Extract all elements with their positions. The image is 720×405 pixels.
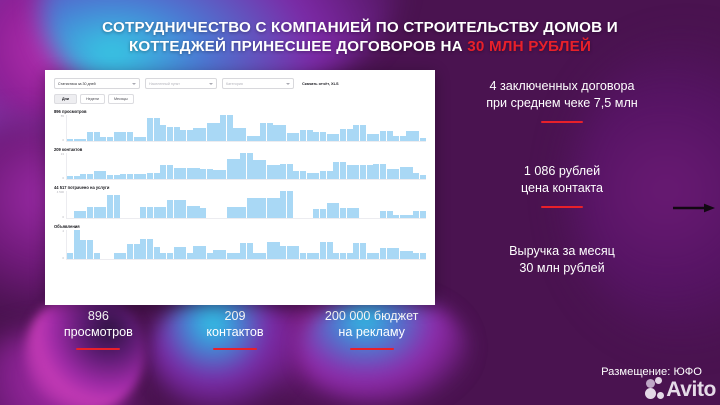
chevron-down-icon <box>132 83 136 85</box>
chart-bar <box>280 246 286 259</box>
chart-contacts-title: 209 контактов <box>54 147 426 152</box>
chart-bar <box>353 243 359 259</box>
stat-budget: 200 000 бюджет на рекламу <box>303 308 440 350</box>
chart-bar <box>193 168 199 179</box>
chart-bar <box>420 138 426 141</box>
chart-bar <box>127 174 133 179</box>
highlight-contracts-line-1: 4 заключенных договора <box>437 78 687 95</box>
chart-contacts-body: 13 0 <box>54 153 426 180</box>
stat-views-label: просмотров <box>30 324 167 340</box>
chart-bar <box>240 243 246 259</box>
chart-bar <box>180 247 186 259</box>
chart-bar <box>287 246 293 259</box>
chart-bar <box>220 170 226 179</box>
chart-bar <box>134 244 140 259</box>
chart-bar <box>300 171 306 179</box>
chart-bar <box>313 132 319 141</box>
chart-bar <box>267 165 273 179</box>
highlight-revenue: Выручка за месяц 30 млн рублей <box>437 243 687 277</box>
chart-bar <box>100 137 106 141</box>
chart-bar <box>253 160 259 179</box>
chart-bar <box>167 165 173 179</box>
page-title: СОТРУДНИЧЕСТВО С КОМПАНИЕЙ ПО СТРОИТЕЛЬС… <box>0 18 720 56</box>
chart-bar <box>400 136 406 141</box>
chart-bar <box>347 253 353 259</box>
divider-rule <box>350 348 394 350</box>
category-select[interactable]: Категория <box>222 78 294 89</box>
arrow-right-icon <box>673 203 715 213</box>
chart-bar <box>227 115 233 141</box>
chart-bar <box>307 173 313 180</box>
chart-bar <box>187 253 193 259</box>
chart-bar <box>353 165 359 179</box>
chart-bar <box>340 253 346 259</box>
chart-bar <box>380 164 386 179</box>
chart-bar <box>127 244 133 259</box>
chart-bar <box>167 200 173 218</box>
tab-days[interactable]: Дни <box>54 94 77 104</box>
chart-bar <box>406 167 412 179</box>
chart-bar <box>273 242 279 259</box>
chart-listings-yaxis: 4 0 <box>54 230 67 260</box>
chart-bar <box>87 132 93 141</box>
chart-bar <box>406 215 412 218</box>
chart-bar <box>240 128 246 141</box>
chart-bar <box>67 176 73 179</box>
chart-bar <box>320 209 326 218</box>
chart-spend-yaxis: 4 500 0 <box>54 191 67 219</box>
chart-bar <box>74 139 80 141</box>
chart-bar <box>406 251 412 259</box>
chart-bar <box>373 164 379 179</box>
chart-bar <box>313 209 319 218</box>
chart-views-bars <box>67 115 426 142</box>
chart-bar <box>393 248 399 259</box>
chart-bar <box>174 127 180 141</box>
avito-dots-icon <box>645 377 667 403</box>
chart-bar <box>213 250 219 259</box>
chart-bar <box>207 123 213 141</box>
chart-bar <box>300 130 306 141</box>
chart-bar <box>247 153 253 179</box>
chart-bar <box>380 211 386 218</box>
chart-bar <box>267 242 273 259</box>
chart-bar <box>267 123 273 141</box>
chart-bar <box>340 208 346 218</box>
title-line-2: КОТТЕДЖЕЙ ПРИНЕСШЕЕ ДОГОВОРОВ НА 30 МЛН … <box>24 37 696 56</box>
highlight-contact-price: 1 086 рублей цена контакта <box>437 163 687 208</box>
chart-bar <box>253 198 259 218</box>
chart-bar <box>333 162 339 179</box>
chart-listings-title: Объявления <box>54 224 426 229</box>
chart-contacts: 209 контактов 13 0 <box>54 147 426 180</box>
chart-bar <box>207 169 213 179</box>
chart-spend-title: 44 517 потрачено на услуги <box>54 185 426 190</box>
title-line-2-plain: КОТТЕДЖЕЙ ПРИНЕСШЕЕ ДОГОВОРОВ НА <box>129 38 467 55</box>
chart-bar <box>147 118 153 141</box>
chart-bar <box>174 168 180 179</box>
chart-bar <box>347 129 353 141</box>
avito-watermark: Avito <box>645 377 716 403</box>
chart-bar <box>200 128 206 141</box>
chart-bar <box>67 139 73 141</box>
chart-bar <box>280 191 286 218</box>
stat-contacts-value: 209 <box>167 308 304 324</box>
avito-wordmark: Avito <box>666 378 716 402</box>
stat-contacts-label: контактов <box>167 324 304 340</box>
highlight-contact-price-line-1: 1 086 рублей <box>437 163 687 180</box>
chart-bar <box>393 169 399 179</box>
chart-bar <box>247 243 253 259</box>
chart-bar <box>227 253 233 259</box>
chart-bar <box>273 165 279 179</box>
chart-bar <box>380 131 386 141</box>
granularity-tabs: Дни Недели Месяцы <box>54 94 426 104</box>
chart-bar <box>233 159 239 179</box>
chart-bar <box>393 136 399 141</box>
chart-bar <box>114 253 120 259</box>
chart-bar <box>160 125 166 141</box>
chart-views-ytick-top: 55 <box>61 115 64 118</box>
chart-bar <box>420 253 426 259</box>
divider-rule <box>213 348 257 350</box>
chart-bar <box>67 253 73 259</box>
chart-bar <box>174 200 180 218</box>
chart-bar <box>187 168 193 179</box>
chart-bar <box>80 139 86 141</box>
chart-bar <box>193 128 199 141</box>
tab-months[interactable]: Месяцы <box>108 94 134 104</box>
chart-bar <box>340 162 346 179</box>
chart-bar <box>247 198 253 218</box>
chart-bar <box>154 207 160 218</box>
chart-bar <box>287 164 293 179</box>
chart-bar <box>154 173 160 180</box>
chart-bar <box>74 211 80 218</box>
chart-bar <box>233 253 239 259</box>
chart-bar <box>420 175 426 179</box>
chart-bar <box>327 203 333 218</box>
chart-bar <box>140 239 146 259</box>
chart-bar <box>134 137 140 141</box>
period-select[interactable]: Статистика за 30 дней <box>54 78 140 89</box>
chart-bar <box>280 125 286 141</box>
chart-bar <box>87 174 93 179</box>
chart-bar <box>373 134 379 141</box>
chart-bar <box>147 173 153 180</box>
chart-spend-ytick-bottom: 0 <box>62 216 64 219</box>
chart-bar <box>120 132 126 141</box>
chart-bar <box>293 246 299 259</box>
chart-bar <box>193 206 199 218</box>
chart-bar <box>107 195 113 218</box>
chart-bar <box>333 253 339 259</box>
chart-bar <box>327 134 333 141</box>
chart-views-body: 55 0 <box>54 115 426 142</box>
chart-bar <box>313 173 319 180</box>
chart-bar <box>307 253 313 259</box>
chart-bar <box>127 132 133 141</box>
chart-bar <box>87 240 93 259</box>
chart-views-yaxis: 55 0 <box>54 115 67 142</box>
chart-bar <box>380 248 386 259</box>
highlight-contracts-line-2: при среднем чеке 7,5 млн <box>437 95 687 112</box>
chart-bar <box>100 207 106 218</box>
chart-bar <box>387 169 393 179</box>
chart-bar <box>307 130 313 141</box>
chart-bar <box>260 160 266 179</box>
chart-bar <box>240 207 246 218</box>
title-line-1: СОТРУДНИЧЕСТВО С КОМПАНИЕЙ ПО СТРОИТЕЛЬС… <box>24 18 696 37</box>
chart-bar <box>320 171 326 179</box>
chart-bar <box>94 207 100 218</box>
chart-bar <box>134 174 140 179</box>
chart-bar <box>347 208 353 218</box>
chart-bar <box>180 200 186 218</box>
chevron-down-icon <box>286 83 290 85</box>
period-select-value: Статистика за 30 дней <box>58 82 96 86</box>
chart-bar <box>94 171 100 179</box>
chart-bar <box>333 134 339 141</box>
download-report-link[interactable]: Скачать отчёт, XLS <box>302 81 339 86</box>
chart-bar <box>87 207 93 218</box>
highlight-revenue-line-2: 30 млн рублей <box>437 260 687 277</box>
chart-bar <box>320 132 326 141</box>
chart-bar <box>260 198 266 218</box>
chart-bar <box>213 170 219 179</box>
chart-bar <box>94 253 100 259</box>
chart-bar <box>114 175 120 179</box>
category-select-value: Категория <box>226 82 243 86</box>
chart-bar <box>220 115 226 141</box>
chart-bar <box>227 159 233 179</box>
chart-views-title: 896 просмотров <box>54 109 426 114</box>
dashboard-toolbar: Статистика за 30 дней Населенный пункт К… <box>54 78 426 89</box>
chart-spend-body: 4 500 0 <box>54 191 426 219</box>
chart-bar <box>207 253 213 259</box>
chart-bar <box>160 207 166 218</box>
chart-bar <box>360 125 366 141</box>
chart-bar <box>360 165 366 179</box>
highlight-contracts: 4 заключенных договора при среднем чеке … <box>437 78 687 123</box>
highlight-contact-price-line-2: цена контакта <box>437 180 687 197</box>
chart-listings-ytick-top: 4 <box>62 230 64 233</box>
chart-bar <box>160 253 166 259</box>
chart-bar <box>114 195 120 218</box>
chart-bar <box>174 247 180 259</box>
chart-bar <box>340 129 346 141</box>
chart-bar <box>353 208 359 218</box>
chart-bar <box>320 242 326 259</box>
chart-bar <box>327 171 333 179</box>
tab-weeks[interactable]: Недели <box>80 94 105 104</box>
chart-bar <box>253 136 259 141</box>
chart-listings-bars <box>67 230 426 260</box>
chart-contacts-bars <box>67 153 426 180</box>
chart-bar <box>273 125 279 141</box>
divider-rule <box>76 348 120 350</box>
chart-spend-bars <box>67 191 426 219</box>
chart-bar <box>74 176 80 179</box>
chart-bar <box>327 242 333 259</box>
chart-contacts-ytick-top: 13 <box>61 153 64 156</box>
chart-bar <box>387 131 393 141</box>
chart-bar <box>160 165 166 179</box>
chart-listings: Объявления 4 0 <box>54 224 426 260</box>
chart-bar <box>200 246 206 259</box>
chart-bar <box>80 211 86 218</box>
chart-bar <box>333 203 339 218</box>
chart-contacts-yaxis: 13 0 <box>54 153 67 180</box>
chart-bar <box>147 239 153 259</box>
chart-bar <box>280 164 286 179</box>
chart-bar <box>273 198 279 218</box>
chart-bar <box>120 174 126 179</box>
chart-bar <box>154 118 160 141</box>
chart-bar <box>200 208 206 218</box>
chart-bar <box>187 206 193 218</box>
stat-budget-value: 200 000 бюджет <box>303 308 440 324</box>
title-line-2-accent: 30 МЛН РУБЛЕЙ <box>467 38 591 55</box>
stat-views: 896 просмотров <box>30 308 167 350</box>
chart-bar <box>114 132 120 141</box>
chart-bar <box>373 253 379 259</box>
slide-root: СОТРУДНИЧЕСТВО С КОМПАНИЕЙ ПО СТРОИТЕЛЬС… <box>0 0 720 405</box>
chart-bar <box>347 165 353 179</box>
chart-bar <box>267 198 273 218</box>
analytics-dashboard-card: Статистика за 30 дней Населенный пункт К… <box>45 70 435 305</box>
chart-bar <box>253 253 259 259</box>
highlight-revenue-line-1: Выручка за месяц <box>437 243 687 260</box>
chart-bar <box>80 174 86 179</box>
chart-listings-body: 4 0 <box>54 230 426 260</box>
chart-bar <box>393 215 399 218</box>
chart-bar <box>420 211 426 218</box>
chart-bar <box>387 248 393 259</box>
chart-bar <box>213 123 219 141</box>
chevron-down-icon <box>209 83 213 85</box>
chart-bar <box>180 130 186 141</box>
chart-bar <box>147 207 153 218</box>
locality-select[interactable]: Населенный пункт <box>145 78 217 89</box>
chart-bar <box>413 253 419 259</box>
chart-bar <box>413 173 419 179</box>
chart-bar <box>167 253 173 259</box>
divider-rule <box>541 121 583 123</box>
chart-bar <box>387 211 393 218</box>
chart-bar <box>120 253 126 259</box>
chart-bar <box>367 253 373 259</box>
chart-bar <box>360 243 366 259</box>
chart-bar <box>107 137 113 141</box>
chart-bar <box>293 171 299 179</box>
chart-bar <box>313 253 319 259</box>
chart-contacts-ytick-bottom: 0 <box>62 177 64 180</box>
chart-bar <box>260 123 266 141</box>
chart-listings-ytick-bottom: 0 <box>62 257 64 260</box>
chart-bar <box>260 253 266 259</box>
chart-bar <box>400 167 406 179</box>
chart-bar <box>74 230 80 259</box>
chart-bar <box>80 240 86 259</box>
chart-bar <box>140 137 146 141</box>
chart-bar <box>94 132 100 141</box>
chart-bar <box>367 134 373 141</box>
chart-bar <box>200 169 206 179</box>
chart-bar <box>406 131 412 141</box>
chart-views-ytick-bottom: 0 <box>62 139 64 142</box>
chart-bar <box>220 250 226 259</box>
chart-bar <box>367 165 373 179</box>
chart-bar <box>293 133 299 141</box>
stat-contacts: 209 контактов <box>167 308 304 350</box>
stat-views-value: 896 <box>30 308 167 324</box>
chart-bar <box>247 136 253 141</box>
chart-bar <box>400 215 406 218</box>
chart-bar <box>233 128 239 141</box>
chart-bar <box>353 125 359 141</box>
chart-bar <box>287 191 293 218</box>
bottom-stats: 896 просмотров 209 контактов 200 000 бюд… <box>30 308 440 350</box>
chart-views: 896 просмотров 55 0 <box>54 109 426 142</box>
chart-bar <box>300 253 306 259</box>
chart-bar <box>154 247 160 259</box>
stat-budget-label: на рекламу <box>303 324 440 340</box>
chart-bar <box>287 133 293 141</box>
chart-bar <box>180 168 186 179</box>
chart-bar <box>413 131 419 141</box>
chart-bar <box>187 130 193 141</box>
chart-bar <box>227 207 233 218</box>
chart-spend-ytick-top: 4 500 <box>57 191 64 194</box>
chart-bar <box>107 175 113 179</box>
chart-bar <box>193 246 199 259</box>
chart-bar <box>233 207 239 218</box>
divider-rule <box>541 206 583 208</box>
locality-select-value: Населенный пункт <box>149 82 180 86</box>
chart-bar <box>140 174 146 179</box>
chart-bar <box>167 127 173 141</box>
chart-bar <box>413 211 419 218</box>
chart-bar <box>240 153 246 179</box>
chart-bar <box>400 251 406 259</box>
chart-spend: 44 517 потрачено на услуги 4 500 0 <box>54 185 426 219</box>
chart-bar <box>100 171 106 179</box>
chart-bar <box>140 207 146 218</box>
